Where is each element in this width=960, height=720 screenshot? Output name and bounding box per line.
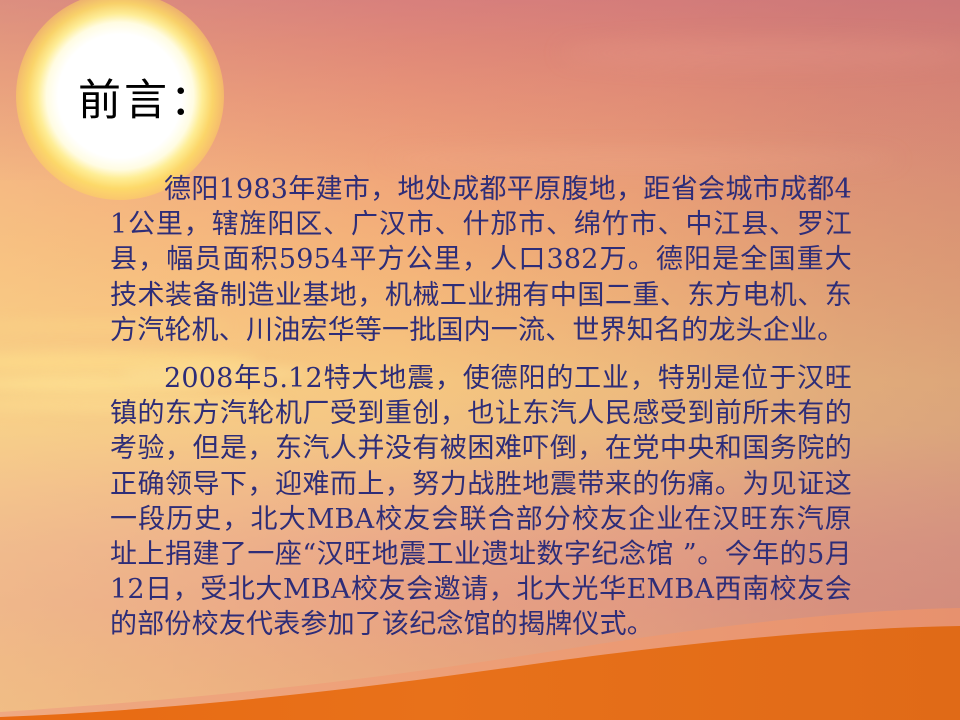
- paragraph-2: 2008年5.12特大地震，使德阳的工业，特别是位于汉旺镇的东方汽轮机厂受到重创…: [110, 361, 852, 643]
- slide-content: 前言： 德阳1983年建市，地处成都平原腹地，距省会城市成都41公里，辖旌阳区、…: [0, 0, 960, 720]
- paragraph-1: 德阳1983年建市，地处成都平原腹地，距省会城市成都41公里，辖旌阳区、广汉市、…: [110, 172, 852, 348]
- presentation-slide: 前言： 德阳1983年建市，地处成都平原腹地，距省会城市成都41公里，辖旌阳区、…: [0, 0, 960, 720]
- page-title: 前言：: [78, 80, 216, 123]
- body-text-block: 德阳1983年建市，地处成都平原腹地，距省会城市成都41公里，辖旌阳区、广汉市、…: [110, 172, 852, 643]
